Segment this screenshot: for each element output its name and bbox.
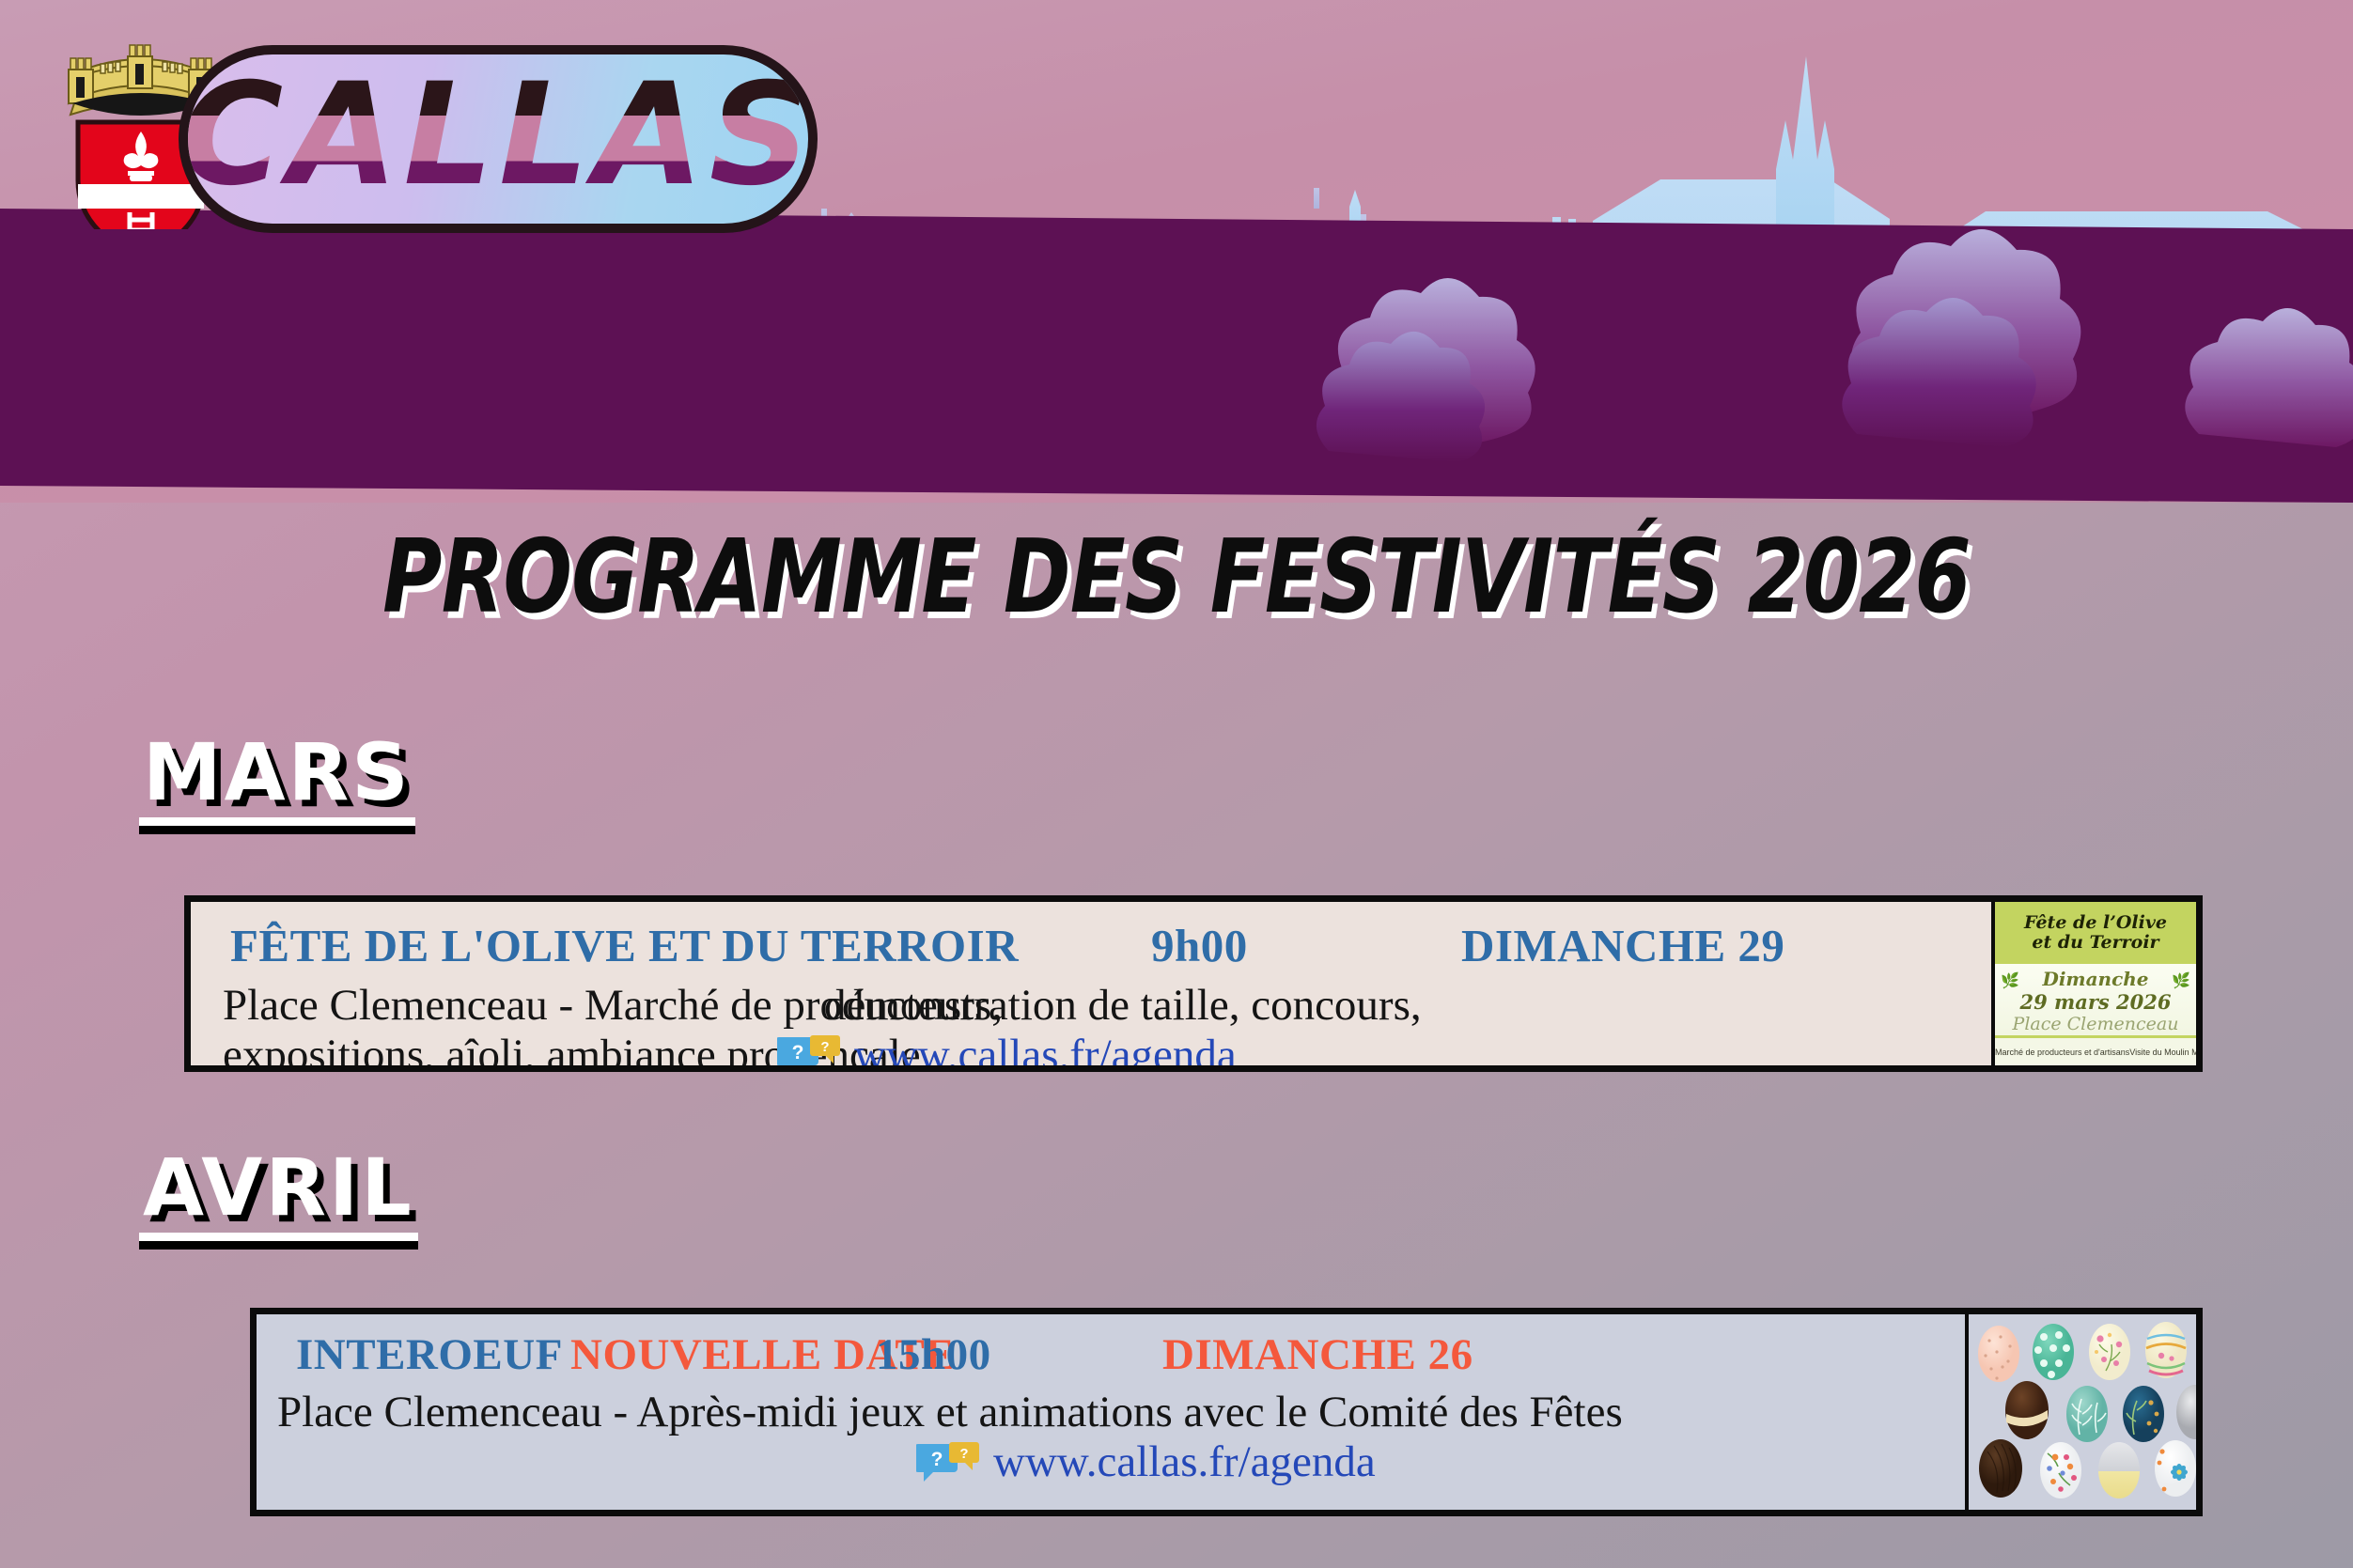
poster-day: Dimanche: [1995, 968, 2196, 990]
event-title: FÊTE DE L'OLIVE ET DU TERROIR: [230, 919, 1151, 972]
event-time: 9h00: [1151, 919, 1461, 972]
poster-band-line1: Fête de l’Olive: [2024, 913, 2167, 933]
poster-date: 29 mars 2026: [1995, 990, 2196, 1014]
event-desc-line1a: Place Clemenceau - Marché de producteurs…: [223, 981, 824, 1031]
event-time: 15h00: [876, 1329, 1162, 1380]
event-agenda-link[interactable]: ? ? www.callas.fr/agenda: [916, 1437, 1376, 1487]
poster-footer-right: Visite du Moulin Musée: [2129, 1048, 2196, 1057]
speech-bubble-question-icon: ? ?: [916, 1440, 980, 1483]
agenda-url[interactable]: www.callas.fr/agenda: [854, 1031, 1237, 1072]
svg-text:?: ?: [931, 1449, 943, 1470]
month-heading-mars: MARS: [139, 733, 415, 826]
month-heading-avril: AVRIL: [139, 1148, 418, 1241]
olive-sprig-icon: 🌿: [2001, 971, 2019, 990]
event-thumbnail-easter-eggs[interactable]: [1965, 1314, 2196, 1510]
poster-place: Place Clemenceau: [1995, 1014, 2196, 1034]
event-title: INTEROEUF: [296, 1329, 570, 1380]
speech-bubble-question-icon: ? ?: [777, 1033, 841, 1072]
event-row-fete-olive[interactable]: FÊTE DE L'OLIVE ET DU TERROIR 9h00 DIMAN…: [184, 895, 2203, 1072]
event-desc-line2a: expositions, aîoli, ambiance provençale: [223, 1031, 777, 1072]
event-description: Place Clemenceau - Après-midi jeux et an…: [277, 1388, 1623, 1495]
event-thumbnail-olive-poster[interactable]: Fête de l’Olive et du Terroir 🌿 🌿 Dimanc…: [1991, 902, 2196, 1065]
easter-eggs-illustration: [1969, 1320, 2196, 1504]
event-body: INTEROEUF NOUVELLE DATE 15h00 DIMANCHE 2…: [257, 1314, 1965, 1510]
event-header-line: INTEROEUF NOUVELLE DATE 15h00 DIMANCHE 2…: [296, 1329, 2138, 1380]
event-day: DIMANCHE 26: [1162, 1329, 1473, 1380]
olive-sprig-icon: 🌿: [2172, 971, 2190, 990]
svg-text:?: ?: [792, 1042, 804, 1063]
page-title: PROGRAMME DES FESTIVITÉS 2026: [235, 519, 2117, 636]
foreground-trees: [1259, 141, 2353, 503]
header-banner: CALLAS CALLAS: [0, 0, 2353, 503]
poster-date-block: 🌿 🌿 Dimanche 29 mars 2026 Place Clemence…: [1995, 964, 2196, 1035]
event-desc-line1b: démonstration de taille, concours,: [824, 981, 1422, 1031]
poster-footer: Marché de producteurs et d'artisans Visi…: [1995, 1035, 2196, 1065]
event-agenda-link[interactable]: ? ? www.callas.fr/agenda: [777, 1031, 1237, 1072]
event-row-interoeuf[interactable]: INTEROEUF NOUVELLE DATE 15h00 DIMANCHE 2…: [250, 1308, 2203, 1516]
poster-footer-left: Marché de producteurs et d'artisans: [1995, 1048, 2129, 1057]
town-name-text: CALLAS: [188, 54, 808, 224]
event-body: FÊTE DE L'OLIVE ET DU TERROIR 9h00 DIMAN…: [191, 902, 1991, 1065]
svg-text:?: ?: [820, 1039, 829, 1055]
event-day: DIMANCHE 29: [1461, 919, 1784, 972]
event-header-line: FÊTE DE L'OLIVE ET DU TERROIR 9h00 DIMAN…: [230, 919, 2147, 972]
event-description: Place Clemenceau - Marché de producteurs…: [223, 981, 1422, 1072]
poster-band-line2: et du Terroir: [2032, 933, 2158, 953]
agenda-url[interactable]: www.callas.fr/agenda: [993, 1437, 1376, 1487]
poster-title-band: Fête de l’Olive et du Terroir: [1995, 902, 2196, 964]
event-desc-line1: Place Clemenceau - Après-midi jeux et an…: [277, 1388, 1623, 1437]
svg-text:?: ?: [959, 1446, 968, 1462]
event-badge: NOUVELLE DATE: [570, 1329, 876, 1380]
town-name-badge: CALLAS CALLAS: [179, 45, 818, 233]
